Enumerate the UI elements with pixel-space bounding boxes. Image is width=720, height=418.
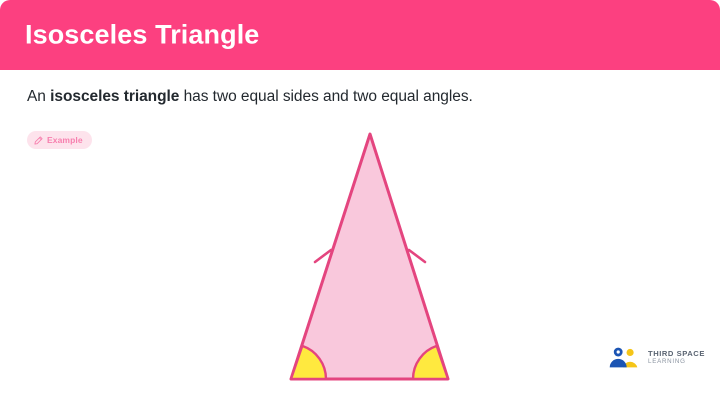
definition-prefix: An (27, 88, 50, 105)
logo-head-yellow (627, 349, 634, 356)
pencil-icon (34, 136, 43, 145)
example-badge: Example (27, 131, 92, 149)
definition-term: isosceles triangle (50, 88, 179, 105)
triangle-figure (255, 120, 485, 400)
example-badge-label: Example (47, 136, 83, 145)
triangle-outline (291, 134, 448, 379)
logo-head-blue-dot (617, 350, 620, 353)
definition-suffix: has two equal sides and two equal angles… (179, 88, 472, 105)
definition-text: An isosceles triangle has two equal side… (27, 88, 473, 106)
slide: Isosceles Triangle An isosceles triangle… (0, 0, 720, 418)
triangle-shape (291, 134, 448, 379)
brand-logo: THIRD SPACE LEARNING (608, 346, 705, 370)
logo-line-2: LEARNING (648, 359, 705, 366)
third-space-learning-mark-icon (608, 346, 642, 370)
page-title: Isosceles Triangle (25, 20, 259, 51)
header-bar: Isosceles Triangle (0, 0, 720, 70)
triangle-svg (255, 120, 485, 400)
logo-wordmark: THIRD SPACE LEARNING (648, 350, 705, 365)
